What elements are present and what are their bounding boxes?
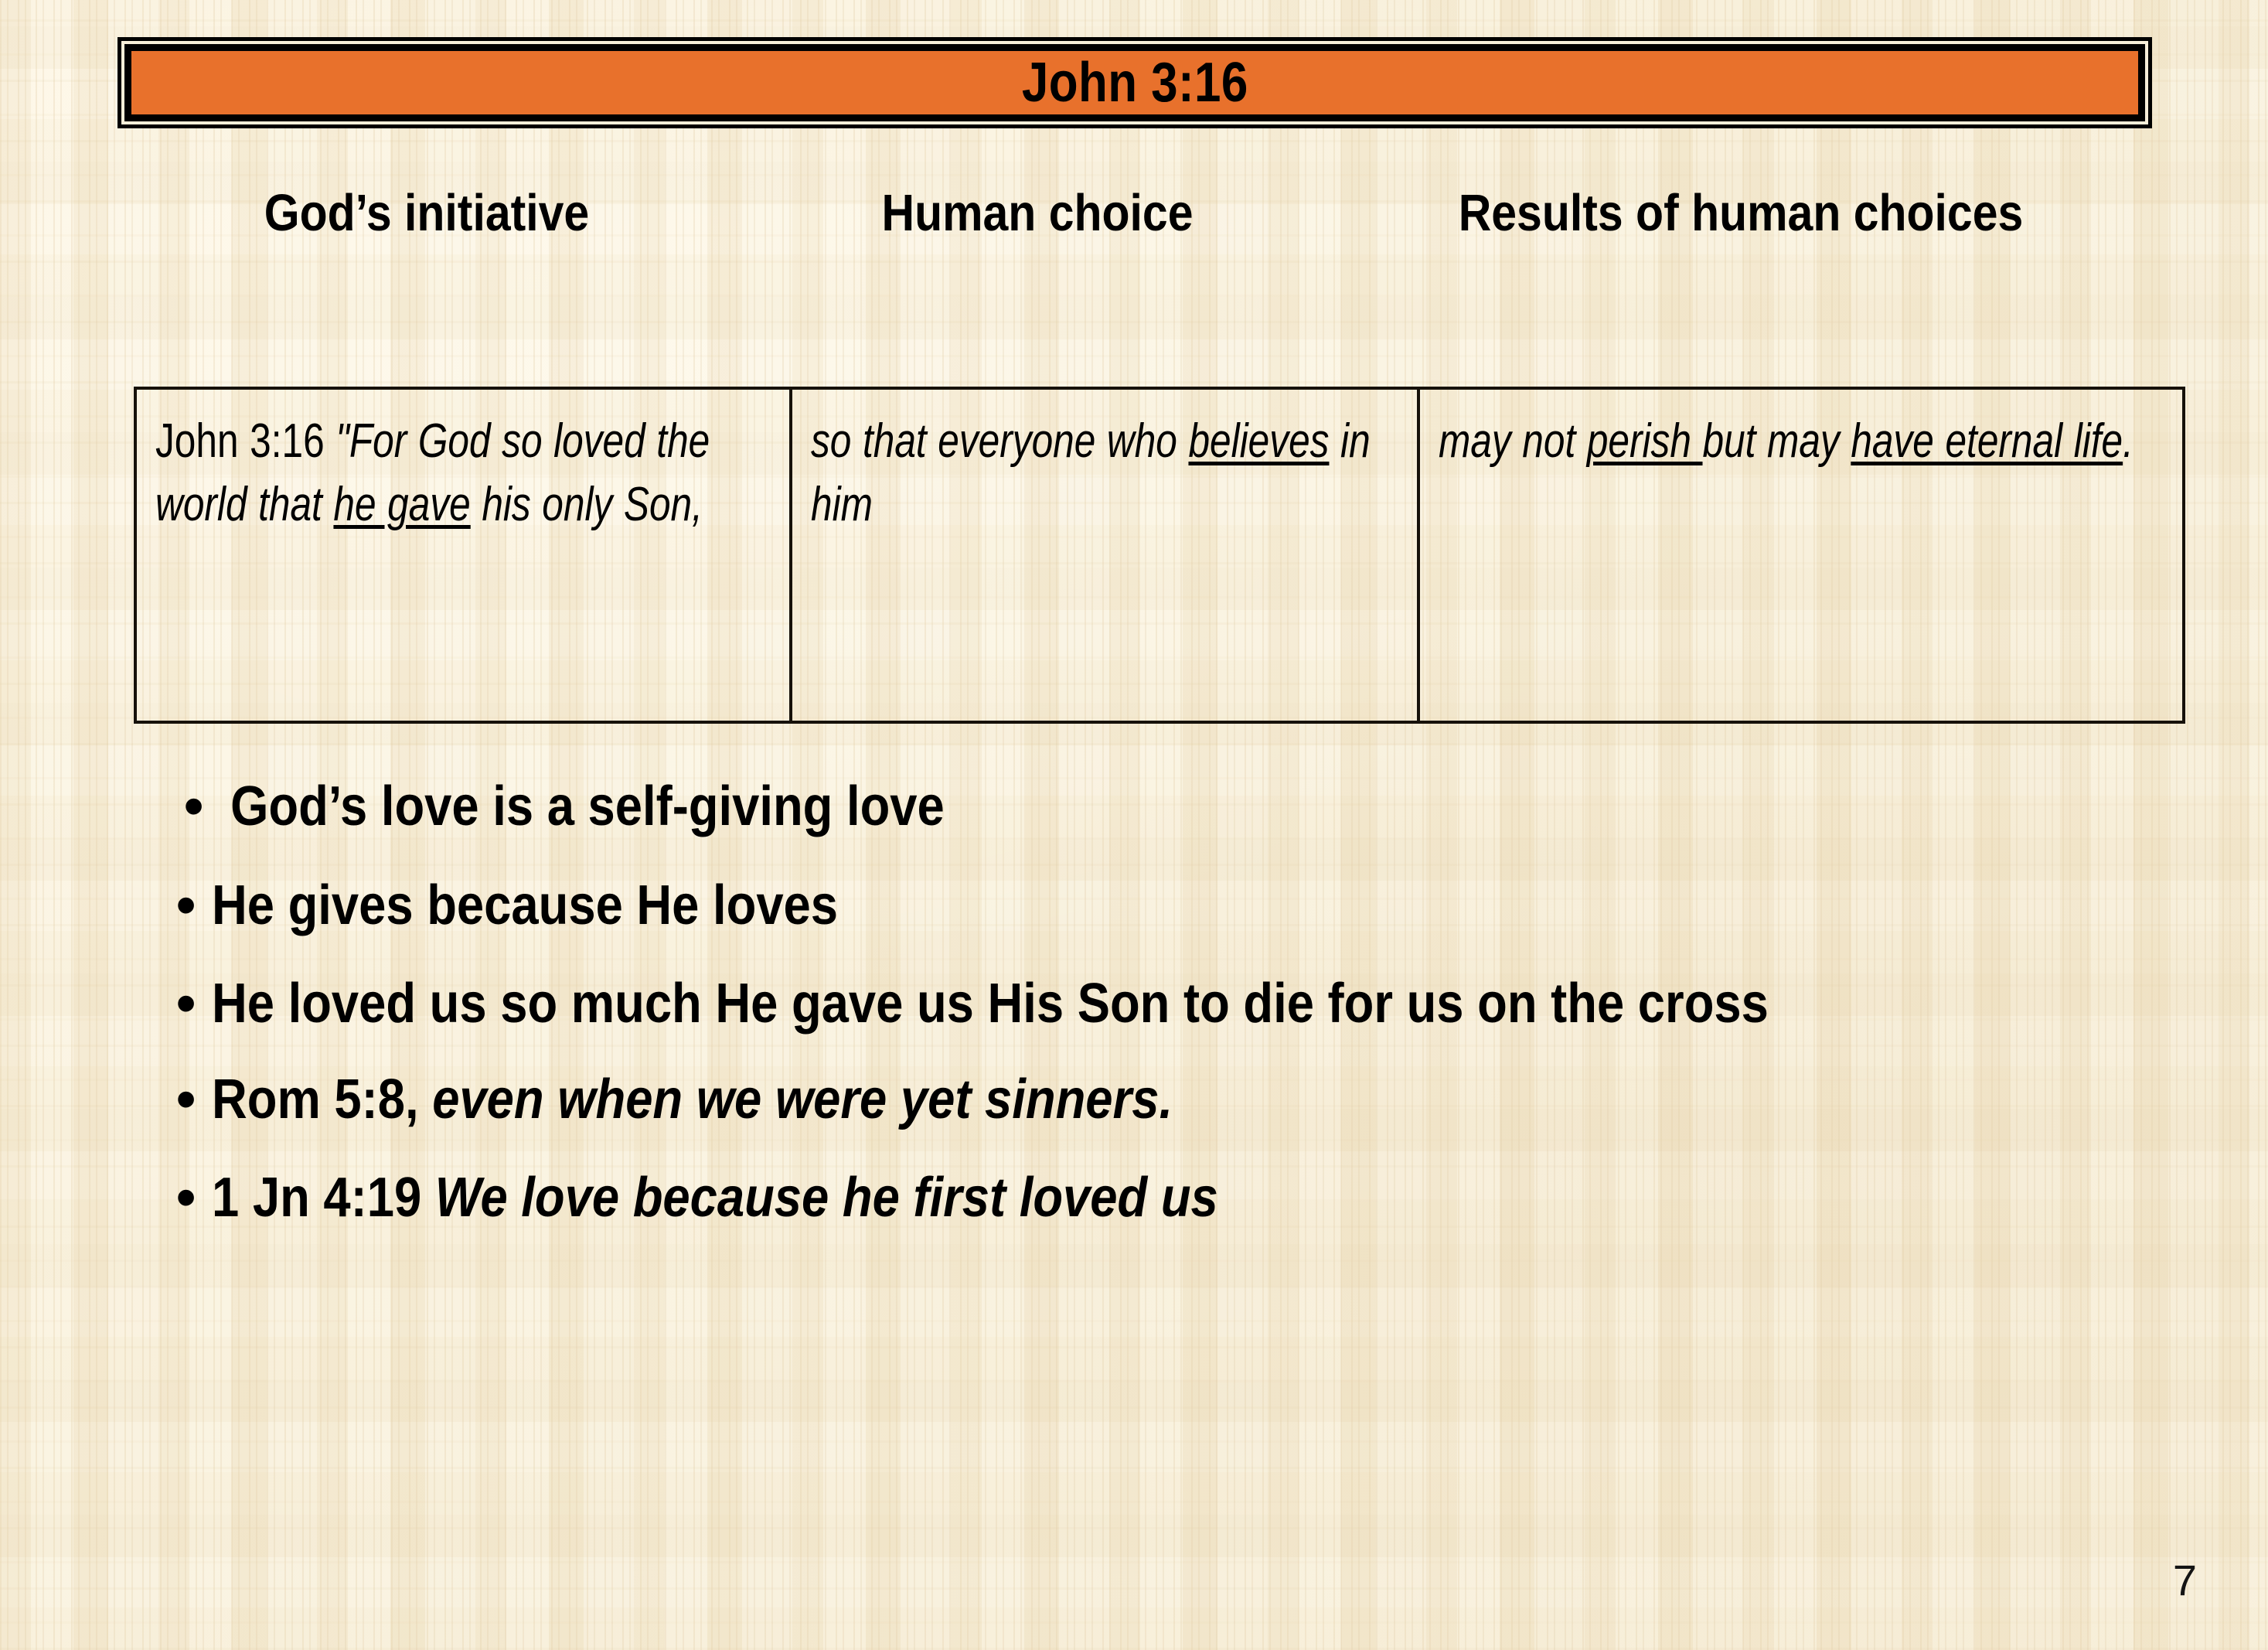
verse-underline-have-eternal-life: have eternal life — [1851, 414, 2123, 468]
verse-underline-believes: believes — [1188, 414, 1329, 468]
verse-underline-he-gave: he gave — [333, 478, 470, 531]
column-header-results-of-human-choices: Results of human choices — [1387, 184, 2094, 243]
verse-middle-but-may: but may — [1703, 414, 1851, 468]
list-item-emphasis: even when we were yet sinners. — [432, 1069, 1173, 1130]
list-item-text: 1 Jn 4:19 — [212, 1167, 435, 1229]
verse-underline-perish: perish — [1587, 414, 1703, 468]
list-item: • Rom 5:8, even when we were yet sinners… — [176, 1068, 2155, 1133]
title-banner-inner: John 3:16 — [124, 44, 2145, 121]
bullet-dot-icon: • — [176, 1068, 212, 1133]
verse-text-human-choice: so that everyone who believes in him — [811, 410, 1401, 537]
list-item-text: God’s love is a self-giving love — [230, 776, 945, 837]
column-headers: God’s initiative Human choice Results of… — [117, 184, 2174, 243]
slide: John 3:16 God’s initiative Human choice … — [0, 0, 2268, 1650]
list-item-label: Rom 5:8, even when we were yet sinners. — [212, 1068, 1922, 1133]
verse-cell-human-choice: so that everyone who believes in him — [792, 390, 1420, 721]
verse-after-eternal-life: . — [2123, 414, 2133, 468]
bullet-dot-icon: • — [176, 1166, 212, 1231]
list-item: • He gives because He loves — [176, 874, 2155, 939]
list-item-emphasis: We love because he first loved us — [435, 1167, 1218, 1229]
list-item-text: He loved us so much He gave us His Son t… — [212, 973, 1769, 1035]
list-item-label: 1 Jn 4:19 We love because he first loved… — [212, 1166, 1922, 1231]
bullet-list: • God’s love is a self-giving love • He … — [176, 775, 2155, 1265]
list-item: • 1 Jn 4:19 We love because he first lov… — [176, 1166, 2155, 1231]
title-banner: John 3:16 — [117, 37, 2152, 128]
verse-quote-rest: his only Son, — [471, 478, 703, 531]
bullet-dot-icon: • — [176, 874, 212, 939]
list-item-text: Rom 5:8, — [212, 1069, 432, 1130]
bullet-dot-icon: • — [184, 775, 220, 840]
list-item-label: He gives because He loves — [212, 874, 1922, 939]
list-item: • He loved us so much He gave us His Son… — [176, 972, 2155, 1037]
page-title: John 3:16 — [1022, 55, 1248, 111]
list-item-text: He gives because He loves — [212, 874, 838, 936]
bullet-dot-icon: • — [176, 972, 212, 1037]
list-item-label: He loved us so much He gave us His Son t… — [212, 972, 1922, 1037]
column-header-human-choice: Human choice — [772, 184, 1303, 243]
verse-before-perish: may not — [1439, 414, 1587, 468]
verse-table: John 3:16 "For God so loved the world th… — [134, 387, 2185, 724]
page-number: 7 — [2173, 1559, 2197, 1602]
column-header-gods-initiative: God’s initiative — [155, 184, 699, 243]
verse-before-believes: so that everyone who — [811, 414, 1188, 468]
verse-text-results: may not perish but may have eternal life… — [1439, 410, 2167, 473]
verse-cell-gods-initiative: John 3:16 "For God so loved the world th… — [137, 390, 792, 721]
verse-text-gods-initiative: John 3:16 "For God so loved the world th… — [155, 410, 774, 537]
verse-cell-results: may not perish but may have eternal life… — [1420, 390, 2182, 721]
list-item: • God’s love is a self-giving love — [184, 775, 2155, 840]
list-item-label: God’s love is a self-giving love — [220, 775, 1923, 840]
verse-reference: John 3:16 — [155, 414, 335, 468]
